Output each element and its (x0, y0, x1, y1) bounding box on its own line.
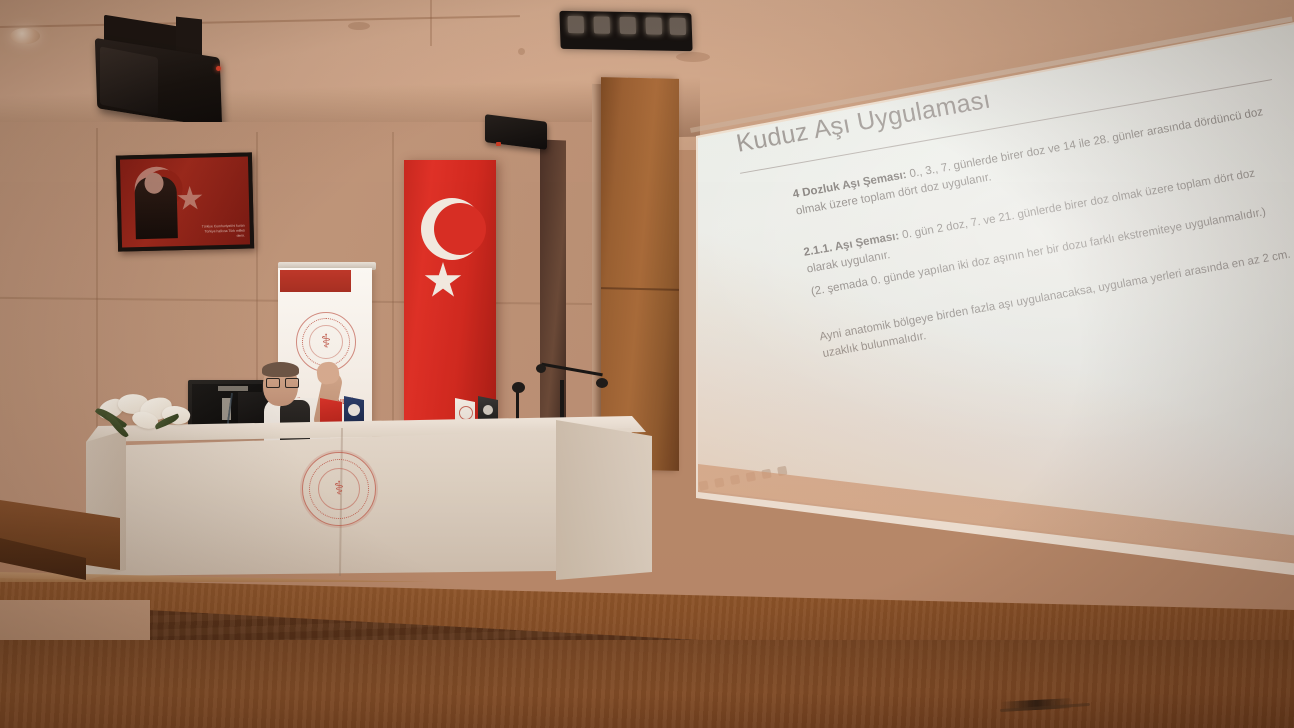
caduceus-icon: ⚕ (321, 333, 331, 352)
podium-ministry-emblem-icon: ⚕ (302, 452, 376, 526)
ceiling-dot (348, 22, 370, 30)
ceiling-vent (676, 52, 710, 62)
microphone-head-1 (512, 382, 525, 393)
slide-paragraph-4: Ayni anatomik bölgeye birden fazla aşı u… (818, 247, 1294, 363)
ataturk-portrait-frame: Türkiye Cumhuriyeti'ni kuran Türkiye hal… (116, 152, 254, 251)
speaker-grille (100, 46, 158, 115)
ceiling-sprinkler-icon (518, 48, 525, 55)
slide-paragraph-4-text: Ayni anatomik bölgeye birden fazla aşı u… (819, 249, 1292, 360)
desk-flag-blue-emblem-icon (348, 404, 360, 416)
presenter-hair (262, 362, 299, 377)
speaker-led-icon (216, 66, 221, 71)
microphone-capsule-2 (536, 364, 546, 373)
wood-wall-panel (601, 77, 679, 471)
microphone-head-2 (596, 378, 608, 388)
podium-caduceus-icon: ⚕ (334, 480, 344, 499)
podium-right-panel (556, 420, 652, 580)
slide-body: 4 Dozluk Aşı Şeması: 0., 3., 7. günlerde… (792, 104, 1294, 363)
floor-shadow (0, 640, 1294, 728)
flag-crescent-inner-icon (434, 203, 486, 255)
wall-panel-line-3 (392, 132, 394, 432)
ceiling-light-grille (559, 11, 692, 51)
desk-flag-black-emblem-icon (483, 405, 493, 415)
flower-arrangement (92, 392, 210, 450)
portrait-image: Türkiye Cumhuriyeti'ni kuran Türkiye hal… (120, 156, 250, 247)
monitor-highlight (218, 386, 248, 391)
desk-flag-white-emblem-icon (459, 406, 473, 420)
glasses-icon (266, 378, 297, 386)
portrait-quote: Türkiye Cumhuriyeti'ni kuran Türkiye hal… (197, 223, 245, 239)
wall-speaker-led-icon (496, 142, 501, 146)
conference-hall-photo: Türkiye Cumhuriyeti'ni kuran Türkiye hal… (0, 0, 1294, 728)
ceiling-seam-vertical (430, 0, 432, 46)
downlight-icon (10, 28, 40, 44)
rollup-banner-red-band (280, 270, 351, 292)
